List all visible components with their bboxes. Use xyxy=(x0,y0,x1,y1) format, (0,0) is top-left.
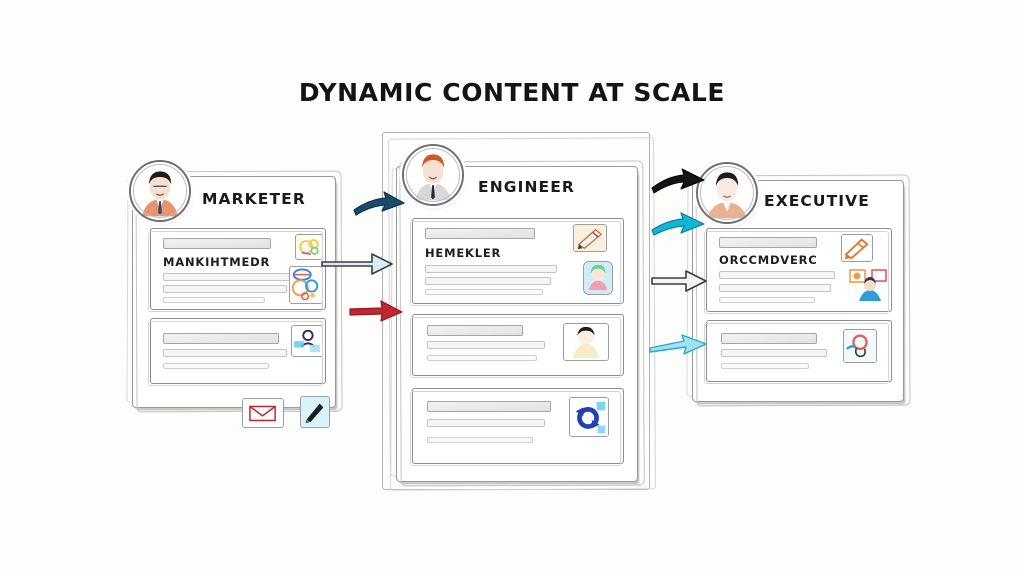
pen-edit-icon[interactable] xyxy=(300,396,330,428)
text-line xyxy=(163,363,269,369)
role-label-marketer: MARKETER xyxy=(202,190,306,208)
card[interactable]: ORCCMDVERC xyxy=(706,228,892,312)
text-line xyxy=(719,237,817,248)
card[interactable] xyxy=(150,318,326,384)
person-chart-icon[interactable] xyxy=(847,267,889,305)
card[interactable]: MANKIHTMEDR xyxy=(150,228,326,310)
text-line xyxy=(163,333,279,344)
person-portrait-icon[interactable] xyxy=(563,323,609,361)
avatar-ring xyxy=(700,166,754,220)
arrow-marketer-to-engineer-1 xyxy=(352,190,408,220)
card-label: ORCCMDVERC xyxy=(719,253,818,267)
text-line xyxy=(721,333,817,344)
text-line xyxy=(425,265,557,273)
card-label: MANKIHTMEDR xyxy=(163,255,270,269)
text-line xyxy=(427,437,533,443)
card[interactable]: HEMEKLER xyxy=(412,218,624,304)
text-line xyxy=(427,401,551,412)
panel-executive[interactable]: ORCCMDVERC xyxy=(692,180,904,402)
avatar-green-hair-icon[interactable] xyxy=(583,261,613,295)
refresh-cycle-icon[interactable] xyxy=(569,397,609,437)
arrow-engineer-to-executive-4 xyxy=(648,332,710,358)
text-line xyxy=(163,297,265,303)
text-line xyxy=(427,341,545,349)
text-line xyxy=(427,355,537,361)
card[interactable] xyxy=(412,314,624,376)
panel-engineer[interactable]: HEMEKLER xyxy=(396,166,638,482)
arrow-engineer-to-executive-2 xyxy=(650,212,708,240)
text-line xyxy=(163,238,271,249)
text-line xyxy=(427,419,545,427)
role-label-executive: EXECUTIVE xyxy=(764,192,870,210)
avatar-ring xyxy=(133,164,187,218)
card[interactable] xyxy=(412,388,624,464)
arrow-engineer-to-executive-3 xyxy=(650,268,710,294)
text-line xyxy=(427,325,523,336)
text-line xyxy=(163,285,287,293)
orange-pen-icon[interactable] xyxy=(841,234,873,262)
text-line xyxy=(719,297,815,303)
text-line xyxy=(425,277,551,285)
card-label: HEMEKLER xyxy=(425,246,501,260)
engineer-avatar[interactable] xyxy=(402,144,464,206)
text-line xyxy=(163,349,287,357)
arrow-marketer-to-engineer-3 xyxy=(348,298,406,326)
envelope-icon[interactable] xyxy=(242,398,284,428)
pencil-document-icon[interactable] xyxy=(573,224,607,252)
text-line xyxy=(425,228,535,239)
magnifier-person-icon[interactable] xyxy=(843,329,877,363)
arrow-engineer-to-executive-1 xyxy=(650,168,708,198)
text-line xyxy=(719,284,831,292)
panel-marketer[interactable]: MANKIHTMEDR xyxy=(132,176,336,408)
text-line xyxy=(425,289,543,295)
text-line xyxy=(721,349,827,357)
page-title: DYNAMIC CONTENT AT SCALE xyxy=(0,78,1024,107)
marketer-avatar[interactable] xyxy=(129,160,191,222)
arrow-marketer-to-engineer-2 xyxy=(320,250,396,278)
lightbulb-gears-icon[interactable] xyxy=(295,234,323,260)
avatar-ring xyxy=(406,148,460,202)
text-line xyxy=(719,271,835,279)
card[interactable] xyxy=(706,320,892,382)
diagram-canvas: DYNAMIC CONTENT AT SCALE MANKIHTMEDR xyxy=(0,0,1024,576)
role-label-engineer: ENGINEER xyxy=(478,178,575,196)
user-profile-blue-icon[interactable] xyxy=(291,325,323,357)
target-palette-icon[interactable] xyxy=(289,266,323,304)
text-line xyxy=(721,363,809,369)
text-line xyxy=(163,273,291,281)
